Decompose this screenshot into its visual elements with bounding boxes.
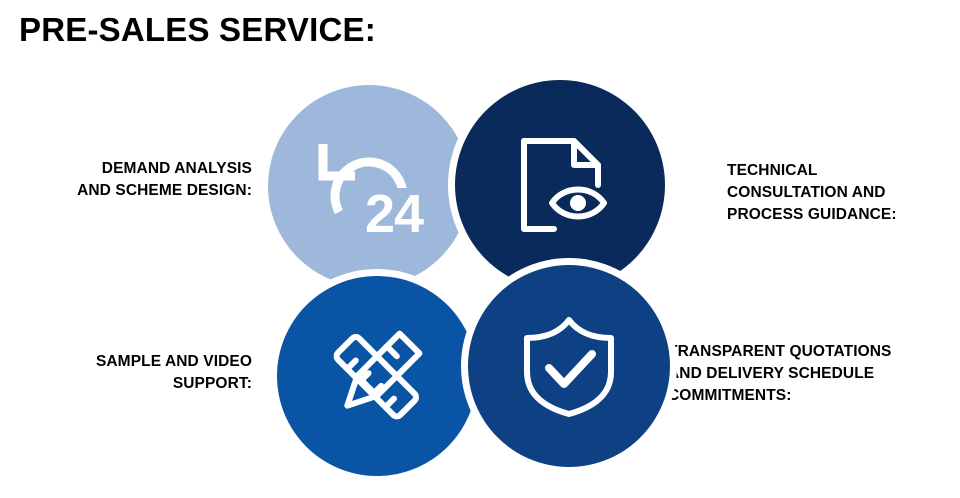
label-sample-video-support: SAMPLE AND VIDEO SUPPORT: [10,351,252,395]
label-line: TRANSPARENT QUOTATIONS [668,341,960,363]
svg-text:24: 24 [365,184,424,238]
circle-transparent-quotations[interactable] [468,265,670,467]
document-eye-icon [455,80,665,290]
circle-demand-analysis[interactable]: 24 [268,85,470,287]
pencil-ruler-icon [277,276,477,476]
label-line: AND DELIVERY SCHEDULE [668,363,960,385]
label-line: SUPPORT: [10,373,252,395]
page-title: PRE-SALES SERVICE: [19,10,376,50]
label-line: SAMPLE AND VIDEO [10,351,252,373]
label-transparent-quotations: TRANSPARENT QUOTATIONS AND DELIVERY SCHE… [668,341,960,407]
circle-cluster: 24 [265,80,670,480]
label-line: PROCESS GUIDANCE: [727,204,959,226]
label-line: DEMAND ANALYSIS [10,158,252,180]
shield-check-icon [468,265,670,467]
label-demand-analysis: DEMAND ANALYSIS AND SCHEME DESIGN: [10,158,252,202]
circle-technical-consultation[interactable] [455,80,665,290]
label-line: CONSULTATION AND [727,182,959,204]
infographic-canvas: PRE-SALES SERVICE: 24 [0,0,960,498]
label-line: COMMITMENTS: [668,385,960,407]
label-line: TECHNICAL [727,160,959,182]
label-technical-consultation: TECHNICAL CONSULTATION AND PROCESS GUIDA… [727,160,959,226]
label-line: AND SCHEME DESIGN: [10,180,252,202]
circle-sample-video-support[interactable] [277,276,477,476]
24-hour-rotate-arrow-icon: 24 [268,85,470,287]
